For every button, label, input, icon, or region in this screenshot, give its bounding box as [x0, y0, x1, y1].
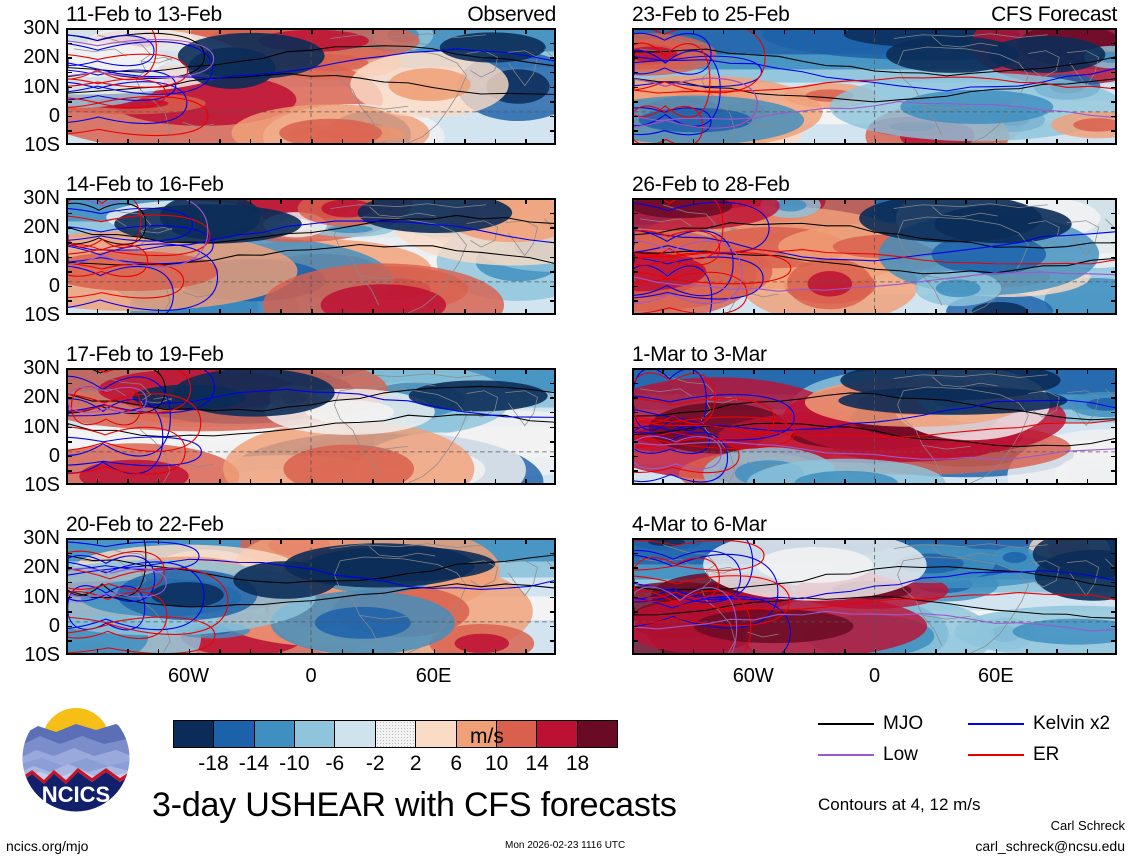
x-tick-mark	[219, 139, 221, 145]
x-tick-mark	[905, 649, 907, 655]
x-tick-mark	[250, 28, 252, 34]
y-tick-mark	[632, 427, 638, 429]
x-tick-mark	[662, 368, 664, 374]
y-tick-10S: 10S	[24, 645, 60, 665]
x-tick-mark	[905, 538, 907, 544]
y-tick-mark	[66, 227, 72, 229]
x-tick-mark	[935, 538, 937, 544]
x-tick-mark	[97, 538, 99, 544]
x-tick-mark	[662, 198, 664, 204]
y-tick-mark	[1111, 567, 1117, 569]
x-tick-mark	[814, 649, 816, 655]
x-tick-mark	[189, 28, 191, 34]
y-tick-mark	[550, 470, 556, 472]
y-tick-mark	[1111, 213, 1117, 215]
map-panel-3[interactable]: 26-Feb to 28-Feb	[632, 198, 1117, 315]
x-tick-mark	[219, 538, 221, 544]
y-tick-mark	[1111, 130, 1117, 132]
y-tick-mark	[550, 72, 556, 74]
x-tick-mark	[996, 649, 998, 655]
x-tick-mark	[753, 309, 755, 315]
map-panel-6[interactable]: 20-Feb to 22-Feb30N20N10N010S60W060E	[66, 538, 556, 655]
x-tick-mark	[495, 309, 497, 315]
x-tick-mark	[280, 538, 282, 544]
x-tick-mark	[784, 139, 786, 145]
y-tick-10N: 10N	[23, 247, 60, 267]
y-tick-0: 0	[49, 276, 60, 296]
x-tick-mark	[280, 479, 282, 485]
colorbar-tick-10: 10	[485, 752, 508, 776]
x-tick-mark	[434, 368, 436, 374]
x-tick-mark	[127, 28, 129, 34]
x-tick-mark	[525, 479, 527, 485]
x-tick-mark	[403, 139, 405, 145]
y-tick-mark	[550, 597, 556, 599]
x-tick-mark	[434, 198, 436, 204]
colorbar-swatch-9	[537, 721, 577, 747]
x-tick-mark	[311, 309, 313, 315]
x-tick-mark	[403, 538, 405, 544]
colorbar-tick--14: -14	[239, 752, 269, 776]
y-tick-mark	[550, 611, 556, 613]
x-tick-mark	[844, 28, 846, 34]
map-panel-4[interactable]: 17-Feb to 19-Feb30N20N10N010S	[66, 368, 556, 485]
x-tick-mark	[158, 649, 160, 655]
y-tick-mark	[550, 427, 556, 429]
map-canvas-7	[632, 538, 1117, 655]
x-tick-mark	[1026, 309, 1028, 315]
y-tick-mark	[66, 553, 72, 555]
x-tick-mark	[97, 198, 99, 204]
x-tick-mark	[723, 139, 725, 145]
y-tick-mark	[1111, 626, 1117, 628]
colorbar-tick--18: -18	[198, 752, 228, 776]
x-tick-mark	[495, 479, 497, 485]
x-tick-mark	[662, 139, 664, 145]
y-tick-mark	[550, 626, 556, 628]
x-tick-mark	[875, 538, 877, 544]
y-tick-mark	[1111, 87, 1117, 89]
x-tick-mark	[693, 198, 695, 204]
x-tick-mark	[965, 139, 967, 145]
x-tick-mark	[158, 368, 160, 374]
x-tick-mark	[280, 649, 282, 655]
x-tick-mark	[1056, 479, 1058, 485]
y-tick-mark	[632, 611, 638, 613]
x-tick-mark	[219, 198, 221, 204]
x-tick-mark	[935, 139, 937, 145]
x-tick-mark	[1087, 649, 1089, 655]
x-tick-mark	[158, 28, 160, 34]
panel-title-5: 1-Mar to 3-Mar	[632, 343, 767, 367]
x-tick-mark	[434, 538, 436, 544]
x-tick-mark	[693, 538, 695, 544]
x-tick-mark	[1087, 139, 1089, 145]
colorbar-tick-2: 2	[410, 752, 422, 776]
y-tick-mark	[1111, 611, 1117, 613]
x-tick-mark	[784, 649, 786, 655]
y-tick-mark	[632, 640, 638, 642]
colorbar-swatches	[173, 720, 618, 748]
x-tick-mark	[1087, 538, 1089, 544]
panel-grid: 11-Feb to 13-FebObserved30N20N10N010S23-…	[0, 0, 1135, 700]
y-tick-mark	[632, 626, 638, 628]
x-tick-mark	[965, 479, 967, 485]
y-tick-mark	[550, 441, 556, 443]
x-tick-mark	[495, 538, 497, 544]
y-tick-20N: 20N	[23, 557, 60, 577]
x-tick-mark	[875, 198, 877, 204]
x-tick-mark	[97, 139, 99, 145]
y-tick-20N: 20N	[23, 387, 60, 407]
x-tick-mark	[814, 198, 816, 204]
x-tick-mark	[935, 198, 937, 204]
colorbar-swatch-1	[214, 721, 254, 747]
x-tick-mark	[464, 28, 466, 34]
colorbar: -18-14-10-6-226101418	[173, 720, 618, 778]
map-panel-5[interactable]: 1-Mar to 3-Mar	[632, 368, 1117, 485]
map-panel-7[interactable]: 4-Mar to 6-Mar60W060E	[632, 538, 1117, 655]
y-tick-mark	[1111, 257, 1117, 259]
x-tick-mark	[1026, 28, 1028, 34]
map-panel-2[interactable]: 14-Feb to 16-Feb30N20N10N010S	[66, 198, 556, 315]
x-tick-mark	[1087, 368, 1089, 374]
y-tick-mark	[550, 412, 556, 414]
y-tick-mark	[550, 271, 556, 273]
x-tick-mark	[219, 28, 221, 34]
map-canvas-4	[66, 368, 556, 485]
x-tick-mark	[127, 139, 129, 145]
x-tick-mark	[342, 139, 344, 145]
x-tick-mark	[403, 198, 405, 204]
x-tick-mark	[1026, 649, 1028, 655]
x-tick-mark	[403, 309, 405, 315]
x-tick-mark	[464, 309, 466, 315]
x-tick-mark	[189, 198, 191, 204]
site-url: ncics.org/mjo	[6, 838, 88, 854]
kelvin-line-icon	[968, 723, 1024, 725]
x-tick-mark	[844, 368, 846, 374]
x-tick-mark	[965, 368, 967, 374]
x-tick-mark	[784, 309, 786, 315]
x-tick-mark	[844, 538, 846, 544]
y-tick-mark	[66, 43, 72, 45]
x-tick-mark	[495, 139, 497, 145]
x-tick-mark	[662, 538, 664, 544]
x-tick-mark	[372, 28, 374, 34]
x-tick-mark	[434, 649, 436, 655]
x-tick-mark	[723, 649, 725, 655]
x-tick-mark	[905, 198, 907, 204]
y-tick-mark	[632, 213, 638, 215]
x-tick-mark	[996, 309, 998, 315]
y-tick-mark	[632, 271, 638, 273]
x-tick-mark	[342, 538, 344, 544]
x-tick-mark	[464, 538, 466, 544]
x-tick-mark	[905, 28, 907, 34]
x-tick-mark	[97, 649, 99, 655]
y-tick-mark	[66, 72, 72, 74]
x-tick-mark	[158, 309, 160, 315]
legend-label-mjo: MJO	[883, 713, 923, 735]
x-tick-mark	[1087, 479, 1089, 485]
x-tick-mark	[905, 368, 907, 374]
y-tick-10S: 10S	[24, 135, 60, 155]
y-tick-mark	[550, 116, 556, 118]
y-tick-mark	[66, 286, 72, 288]
colorbar-tick-labels: -18-14-10-6-226101418	[173, 748, 618, 778]
x-tick-mark	[784, 28, 786, 34]
y-tick-mark	[1111, 227, 1117, 229]
colorbar-swatch-6	[416, 721, 456, 747]
y-tick-mark	[632, 227, 638, 229]
x-tick-mark	[723, 479, 725, 485]
x-tick-mark	[311, 649, 313, 655]
x-tick-mark	[965, 198, 967, 204]
y-tick-mark	[632, 597, 638, 599]
x-tick-mark	[1056, 368, 1058, 374]
y-tick-mark	[66, 640, 72, 642]
map-panel-0[interactable]: 11-Feb to 13-FebObserved30N20N10N010S	[66, 28, 556, 145]
y-tick-mark	[632, 116, 638, 118]
x-tick-mark	[342, 479, 344, 485]
y-tick-mark	[66, 626, 72, 628]
x-tick-mark	[662, 479, 664, 485]
x-tick-mark	[844, 479, 846, 485]
x-tick-mark	[662, 28, 664, 34]
y-tick-mark	[1111, 397, 1117, 399]
y-tick-0: 0	[49, 446, 60, 466]
x-tick-mark	[495, 368, 497, 374]
x-tick-mark	[372, 309, 374, 315]
x-tick-mark	[905, 479, 907, 485]
y-tick-mark	[66, 611, 72, 613]
x-tick-mark	[875, 368, 877, 374]
x-tick-mark	[753, 139, 755, 145]
x-tick-mark	[189, 538, 191, 544]
x-tick-mark	[935, 649, 937, 655]
x-tick-mark	[127, 198, 129, 204]
x-tick-mark	[372, 139, 374, 145]
x-tick-mark	[189, 479, 191, 485]
x-tick-mark	[844, 198, 846, 204]
y-tick-20N: 20N	[23, 217, 60, 237]
x-tick-mark	[996, 28, 998, 34]
x-tick-mark	[525, 368, 527, 374]
x-tick-mark	[814, 538, 816, 544]
x-tick-mark	[127, 538, 129, 544]
y-tick-mark	[550, 227, 556, 229]
x-tick-mark	[250, 538, 252, 544]
panel-title-4: 17-Feb to 19-Feb	[66, 343, 223, 367]
x-tick-mark	[875, 309, 877, 315]
y-tick-mark	[632, 300, 638, 302]
y-tick-mark	[632, 383, 638, 385]
y-tick-mark	[550, 87, 556, 89]
x-tick-mark	[844, 649, 846, 655]
x-tick-mark	[1056, 538, 1058, 544]
y-tick-mark	[550, 242, 556, 244]
x-tick-mark	[996, 139, 998, 145]
x-tick-mark	[525, 309, 527, 315]
y-tick-mark	[632, 412, 638, 414]
x-tick-mark	[1056, 28, 1058, 34]
y-tick-mark	[1111, 470, 1117, 472]
x-tick-mark	[935, 368, 937, 374]
y-tick-mark	[66, 441, 72, 443]
x-tick-mark	[1056, 649, 1058, 655]
y-tick-mark	[66, 582, 72, 584]
map-panel-1[interactable]: 23-Feb to 25-FebCFS Forecast	[632, 28, 1117, 145]
x-tick-mark	[784, 198, 786, 204]
panel-column-header-1: CFS Forecast	[991, 3, 1117, 27]
y-tick-mark	[1111, 412, 1117, 414]
x-tick-mark	[693, 139, 695, 145]
y-tick-30N: 30N	[23, 18, 60, 38]
x-tick-mark	[250, 309, 252, 315]
y-tick-30N: 30N	[23, 188, 60, 208]
x-tick-mark	[723, 538, 725, 544]
x-tick-mark	[905, 309, 907, 315]
x-tick-mark	[311, 479, 313, 485]
y-tick-mark	[632, 43, 638, 45]
x-tick-mark	[662, 649, 664, 655]
x-tick-mark	[525, 198, 527, 204]
y-tick-mark	[632, 130, 638, 132]
y-tick-mark	[1111, 72, 1117, 74]
y-tick-0: 0	[49, 616, 60, 636]
y-tick-mark	[66, 57, 72, 59]
x-tick-mark	[753, 28, 755, 34]
x-tick-mark	[495, 649, 497, 655]
x-tick-mark	[1026, 479, 1028, 485]
x-tick-mark	[250, 649, 252, 655]
legend-item-mjo: MJO	[818, 713, 968, 735]
x-tick-mark	[464, 479, 466, 485]
y-tick-mark	[1111, 582, 1117, 584]
x-tick-mark	[1087, 309, 1089, 315]
map-canvas-6	[66, 538, 556, 655]
colorbar-tick-6: 6	[450, 752, 462, 776]
ncics-logo-graphic: NCICS	[20, 702, 132, 814]
y-tick-mark	[1111, 383, 1117, 385]
x-tick-mark	[158, 139, 160, 145]
y-tick-mark	[632, 257, 638, 259]
y-tick-mark	[1111, 271, 1117, 273]
x-tick-60W: 60W	[733, 665, 774, 688]
x-tick-mark	[814, 28, 816, 34]
x-tick-mark	[434, 479, 436, 485]
x-tick-60E: 60E	[416, 665, 452, 688]
contour-interval-note: Contours at 4, 12 m/s	[818, 795, 981, 815]
y-tick-mark	[66, 101, 72, 103]
panel-title-7: 4-Mar to 6-Mar	[632, 513, 767, 537]
y-tick-mark	[1111, 101, 1117, 103]
y-tick-mark	[550, 383, 556, 385]
y-tick-mark	[632, 57, 638, 59]
x-tick-mark	[464, 368, 466, 374]
y-tick-mark	[632, 567, 638, 569]
colorbar-swatch-2	[255, 721, 295, 747]
x-tick-60W: 60W	[168, 665, 209, 688]
map-canvas-5	[632, 368, 1117, 485]
x-tick-mark	[342, 649, 344, 655]
y-tick-mark	[66, 257, 72, 259]
legend-item-er: ER	[968, 744, 1118, 766]
y-tick-mark	[632, 101, 638, 103]
x-tick-mark	[723, 28, 725, 34]
y-tick-mark	[66, 242, 72, 244]
x-tick-mark	[1026, 139, 1028, 145]
y-tick-mark	[1111, 427, 1117, 429]
colorbar-tick--10: -10	[279, 752, 309, 776]
y-tick-mark	[550, 640, 556, 642]
x-tick-mark	[905, 139, 907, 145]
x-tick-mark	[219, 649, 221, 655]
y-tick-mark	[1111, 116, 1117, 118]
y-tick-mark	[550, 130, 556, 132]
x-tick-mark	[158, 538, 160, 544]
x-tick-mark	[250, 198, 252, 204]
author-name: Carl Schreck	[1051, 818, 1125, 833]
x-tick-mark	[372, 538, 374, 544]
page-title: 3-day USHEAR with CFS forecasts	[152, 786, 677, 825]
x-tick-mark	[935, 28, 937, 34]
legend-item-low: Low	[818, 744, 968, 766]
x-tick-mark	[434, 309, 436, 315]
x-tick-mark	[723, 198, 725, 204]
y-tick-mark	[66, 412, 72, 414]
colorbar-tick--6: -6	[325, 752, 344, 776]
panel-column-header-0: Observed	[467, 3, 556, 27]
map-canvas-2	[66, 198, 556, 315]
x-tick-mark	[996, 538, 998, 544]
x-tick-mark	[693, 649, 695, 655]
x-tick-mark	[693, 368, 695, 374]
x-axis-labels-6: 60W060E	[66, 655, 556, 689]
x-tick-mark	[434, 28, 436, 34]
colorbar-unit-label: m/s	[470, 725, 504, 749]
x-tick-mark	[97, 28, 99, 34]
x-tick-mark	[784, 538, 786, 544]
x-tick-mark	[311, 198, 313, 204]
x-tick-mark	[495, 198, 497, 204]
x-tick-mark	[250, 479, 252, 485]
y-tick-mark	[1111, 441, 1117, 443]
x-tick-mark	[342, 368, 344, 374]
y-tick-0: 0	[49, 106, 60, 126]
x-tick-mark	[1056, 139, 1058, 145]
timestamp: Mon 2026-02-23 1116 UTC	[505, 840, 625, 851]
x-tick-mark	[525, 649, 527, 655]
y-tick-mark	[66, 567, 72, 569]
x-tick-mark	[372, 649, 374, 655]
y-tick-mark	[1111, 640, 1117, 642]
x-axis-labels-7: 60W060E	[632, 655, 1117, 689]
x-tick-mark	[280, 309, 282, 315]
x-tick-mark	[464, 198, 466, 204]
y-tick-10S: 10S	[24, 305, 60, 325]
x-tick-mark	[753, 198, 755, 204]
x-tick-mark	[965, 309, 967, 315]
y-tick-mark	[1111, 456, 1117, 458]
panel-title-3: 26-Feb to 28-Feb	[632, 173, 789, 197]
x-tick-mark	[965, 538, 967, 544]
colorbar-swatch-3	[295, 721, 335, 747]
low-line-icon	[818, 754, 874, 756]
x-tick-mark	[844, 139, 846, 145]
y-tick-mark	[1111, 43, 1117, 45]
